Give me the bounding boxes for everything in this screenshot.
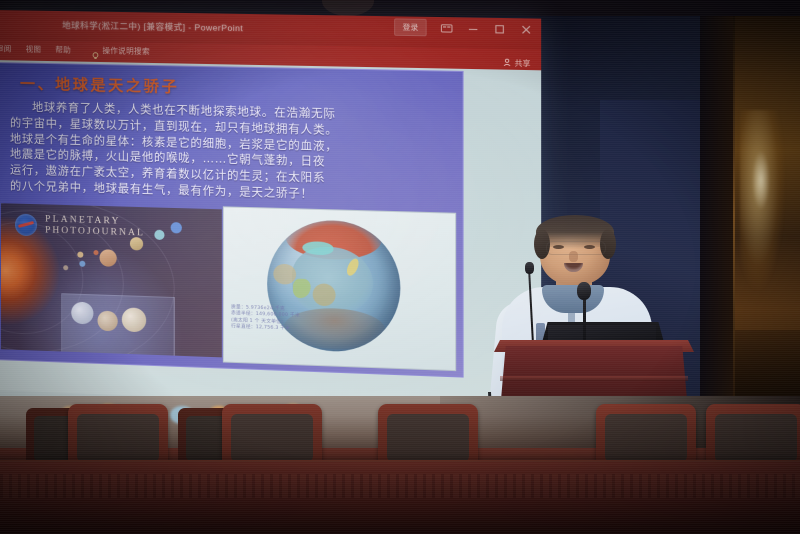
inset-moon-3 <box>122 307 146 332</box>
seat-front-4 <box>596 404 696 466</box>
seat-cushion <box>387 414 469 462</box>
tell-me-search[interactable]: 操作说明搜索 <box>91 45 150 57</box>
planet-mercury <box>63 265 68 270</box>
seat-front-1 <box>68 404 168 466</box>
speaker-nose <box>569 251 578 262</box>
planet-earth <box>79 261 85 267</box>
restore-icon[interactable] <box>493 22 506 35</box>
planet-mars <box>93 250 98 255</box>
planetary-photojournal-image[interactable]: PLANETARY PHOTOJOURNAL <box>1 203 222 357</box>
tab-view[interactable]: 视图 <box>26 44 42 55</box>
slide-body-text: 地球养育了人类，人类也在不断地探索地球。在浩瀚无际 的宇宙中，星球数以万计，直到… <box>10 99 452 206</box>
seat-cushion <box>231 414 313 462</box>
planet-jupiter <box>100 249 117 267</box>
globe-sphere <box>267 219 400 354</box>
tell-me-label[interactable]: 操作说明搜索 <box>102 45 150 57</box>
minimize-icon[interactable] <box>467 22 480 35</box>
amber-panel-specular <box>752 150 770 210</box>
tab-review[interactable]: 审阅 <box>0 43 12 54</box>
inset-moon-2 <box>98 311 118 332</box>
seat-cushion <box>715 414 797 462</box>
auditorium-seating <box>0 396 800 534</box>
tab-help[interactable]: 帮助 <box>55 44 71 55</box>
slide-heading: 一、地球是天之骄子 <box>20 73 179 97</box>
planet-venus <box>77 252 83 258</box>
speaker-left-eye <box>553 245 564 249</box>
gooseneck-microphone-icon <box>525 262 534 274</box>
sign-in-button[interactable]: 登录 <box>394 18 427 36</box>
seat-front-2 <box>222 404 322 466</box>
podium-trim-band <box>500 376 688 381</box>
share-label[interactable]: 共享 <box>515 57 531 69</box>
region-middle-east <box>273 264 296 285</box>
seat-cushion <box>605 414 687 462</box>
auditorium-presentation-scene: 地球科学(淞江二中) [兼容模式] - PowerPoint 登录 <box>0 0 800 534</box>
speaker-right-eye <box>584 245 595 249</box>
globe-caption-line-4: 行星直径：12,756.3 千米 <box>231 324 300 333</box>
close-icon[interactable] <box>520 23 533 36</box>
projection-screen: 地球科学(淞江二中) [兼容模式] - PowerPoint 登录 <box>0 10 541 432</box>
seat-cushion <box>77 414 159 462</box>
region-southeast-asia <box>313 283 336 306</box>
window-controls[interactable]: 登录 <box>394 18 533 38</box>
seat-front-5 <box>706 404 800 466</box>
seat-front-3 <box>378 404 478 466</box>
inset-moon-1 <box>71 302 93 325</box>
desk-microphone-icon <box>577 282 591 300</box>
globe-caption: 质量：5.9736e24 千克 赤道半径：149,600,000 千米 (离太阳… <box>231 305 300 333</box>
planet-neptune <box>171 222 182 233</box>
earth-globe-image[interactable]: 质量：5.9736e24 千克 赤道半径：149,600,000 千米 (离太阳… <box>223 206 456 371</box>
bench-wood-grain <box>0 474 800 498</box>
planet-saturn <box>130 237 143 251</box>
planet-uranus <box>154 230 164 240</box>
lightbulb-icon <box>91 46 99 54</box>
bench-front-panel <box>0 462 800 534</box>
ribbon-display-options-icon[interactable] <box>440 22 453 35</box>
slide-canvas[interactable]: 一、地球是天之骄子 地球养育了人类，人类也在不断地探索地球。在浩瀚无际 的宇宙中… <box>0 62 464 378</box>
